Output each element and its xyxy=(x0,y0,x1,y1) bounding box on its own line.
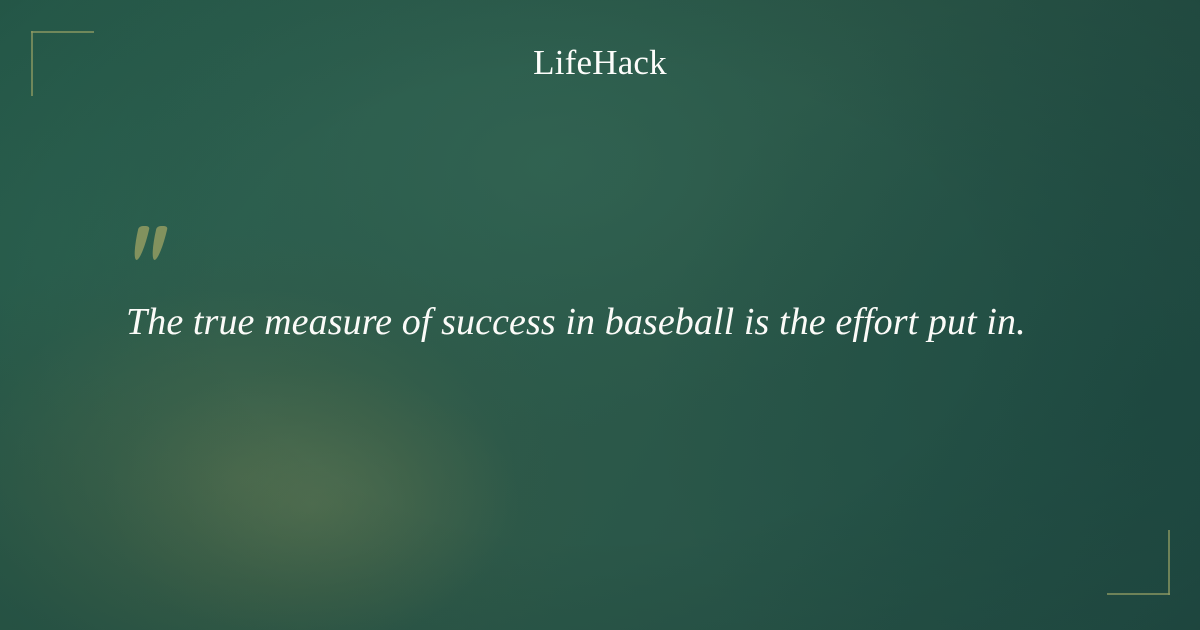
corner-line-horizontal xyxy=(1107,593,1170,595)
corner-line-vertical xyxy=(1168,530,1170,595)
quote-stroke-left xyxy=(131,226,150,260)
corner-line-horizontal xyxy=(31,31,94,33)
quotation-mark-icon xyxy=(133,226,177,270)
quote-stroke-right xyxy=(149,226,168,260)
brand-logo: LifeHack xyxy=(0,40,1200,85)
corner-bracket-bottom-right-icon xyxy=(1107,530,1170,595)
quote-text: The true measure of success in baseball … xyxy=(126,296,1116,348)
quote-card: LifeHack The true measure of success in … xyxy=(0,0,1200,630)
